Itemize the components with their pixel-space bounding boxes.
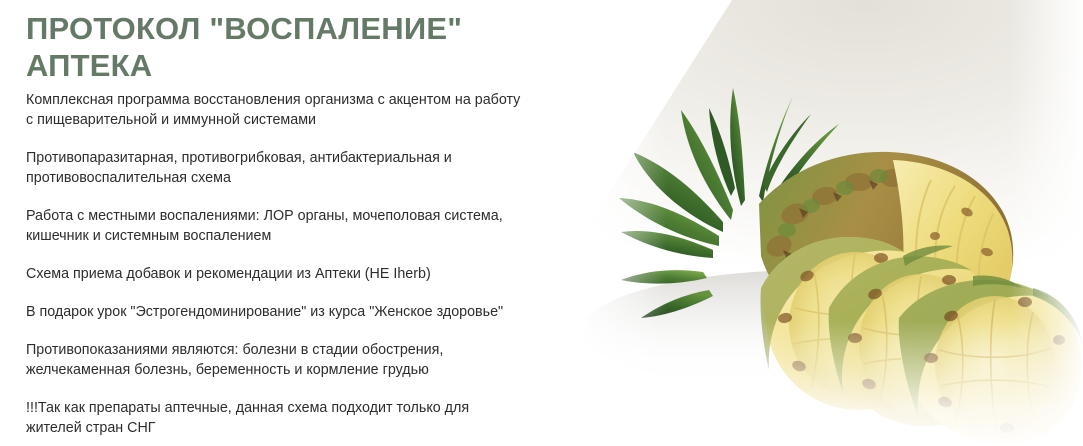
body-paragraph: В подарок урок "Эстрогендоминирование" и… [26,302,538,322]
body-paragraph: Комплексная программа восстановления орг… [26,90,538,130]
body-copy: Комплексная программа восстановления орг… [26,90,538,438]
pineapple-photo [563,0,1083,446]
body-paragraph: Работа с местными воспалениями: ЛОР орга… [26,206,538,246]
page-title: ПРОТОКОЛ "ВОСПАЛЕНИЕ" АПТЕКА [26,10,556,84]
body-paragraph: Схема приема добавок и рекомендации из А… [26,264,538,284]
body-paragraph: Противопоказаниями являются: болезни в с… [26,340,538,380]
body-paragraph: !!!Так как препараты аптечные, данная сх… [26,398,538,438]
promo-banner: ПРОТОКОЛ "ВОСПАЛЕНИЕ" АПТЕКА Комплексная… [0,0,1083,446]
body-paragraph: Противопаразитарная, противогрибковая, а… [26,148,538,188]
text-column: ПРОТОКОЛ "ВОСПАЛЕНИЕ" АПТЕКА Комплексная… [0,0,580,446]
